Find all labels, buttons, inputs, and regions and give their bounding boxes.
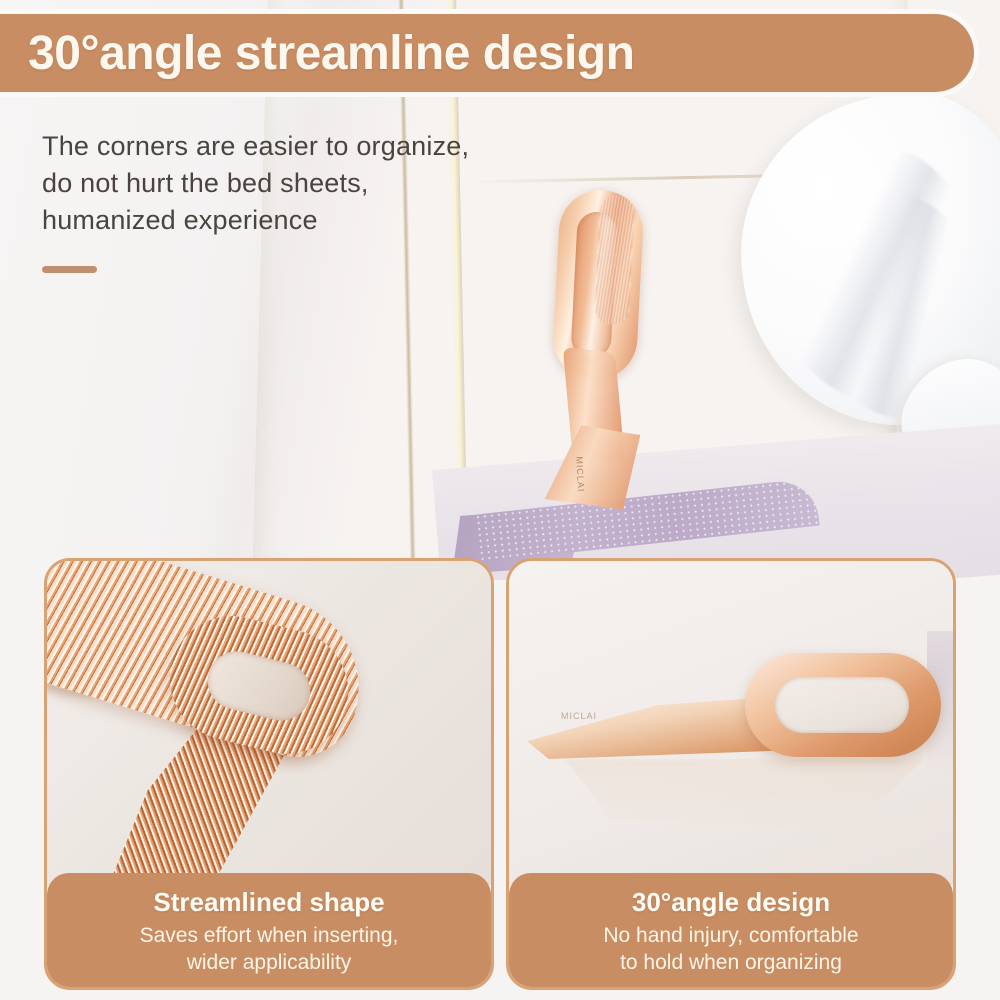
banner-title: 30°angle streamline design <box>28 26 634 81</box>
caption-subtitle-left-line-1: Saves effort when inserting, <box>140 922 399 949</box>
hero-sheet-tucker-tool: MICLAI <box>537 188 653 503</box>
accent-dash <box>42 266 97 273</box>
description-line-1: The corners are easier to organize, <box>42 128 469 165</box>
tool-brand-mark: MICLAI <box>574 456 586 492</box>
profile-tool-brand-mark: MICLAI <box>561 711 597 721</box>
profile-tool <box>527 647 941 767</box>
tool-blade <box>541 423 641 510</box>
streamlined-shape-closeup-photo <box>47 561 491 885</box>
description-line-3: humanized experience <box>42 202 469 239</box>
feature-card-streamlined-shape: Streamlined shape Saves effort when inse… <box>44 558 494 990</box>
caption-title-left: Streamlined shape <box>153 887 384 918</box>
feature-card-angle-design: MICLAI 30°angle design No hand injury, c… <box>506 558 956 990</box>
header-banner: 30°angle streamline design <box>0 14 974 92</box>
caption-subtitle-left-line-2: wider applicability <box>187 949 352 976</box>
profile-tool-hole <box>775 677 909 733</box>
caption-subtitle-right-line-2: to hold when organizing <box>620 949 842 976</box>
caption-subtitle-right-line-1: No hand injury, comfortable <box>603 922 858 949</box>
description-block: The corners are easier to organize, do n… <box>42 128 469 239</box>
caption-title-right: 30°angle design <box>632 887 830 918</box>
angle-design-profile-photo: MICLAI <box>509 561 953 885</box>
caption-bar-right: 30°angle design No hand injury, comforta… <box>509 873 953 987</box>
caption-bar-left: Streamlined shape Saves effort when inse… <box>47 873 491 987</box>
tool-loop-highlight <box>594 194 635 326</box>
description-line-2: do not hurt the bed sheets, <box>42 165 469 202</box>
